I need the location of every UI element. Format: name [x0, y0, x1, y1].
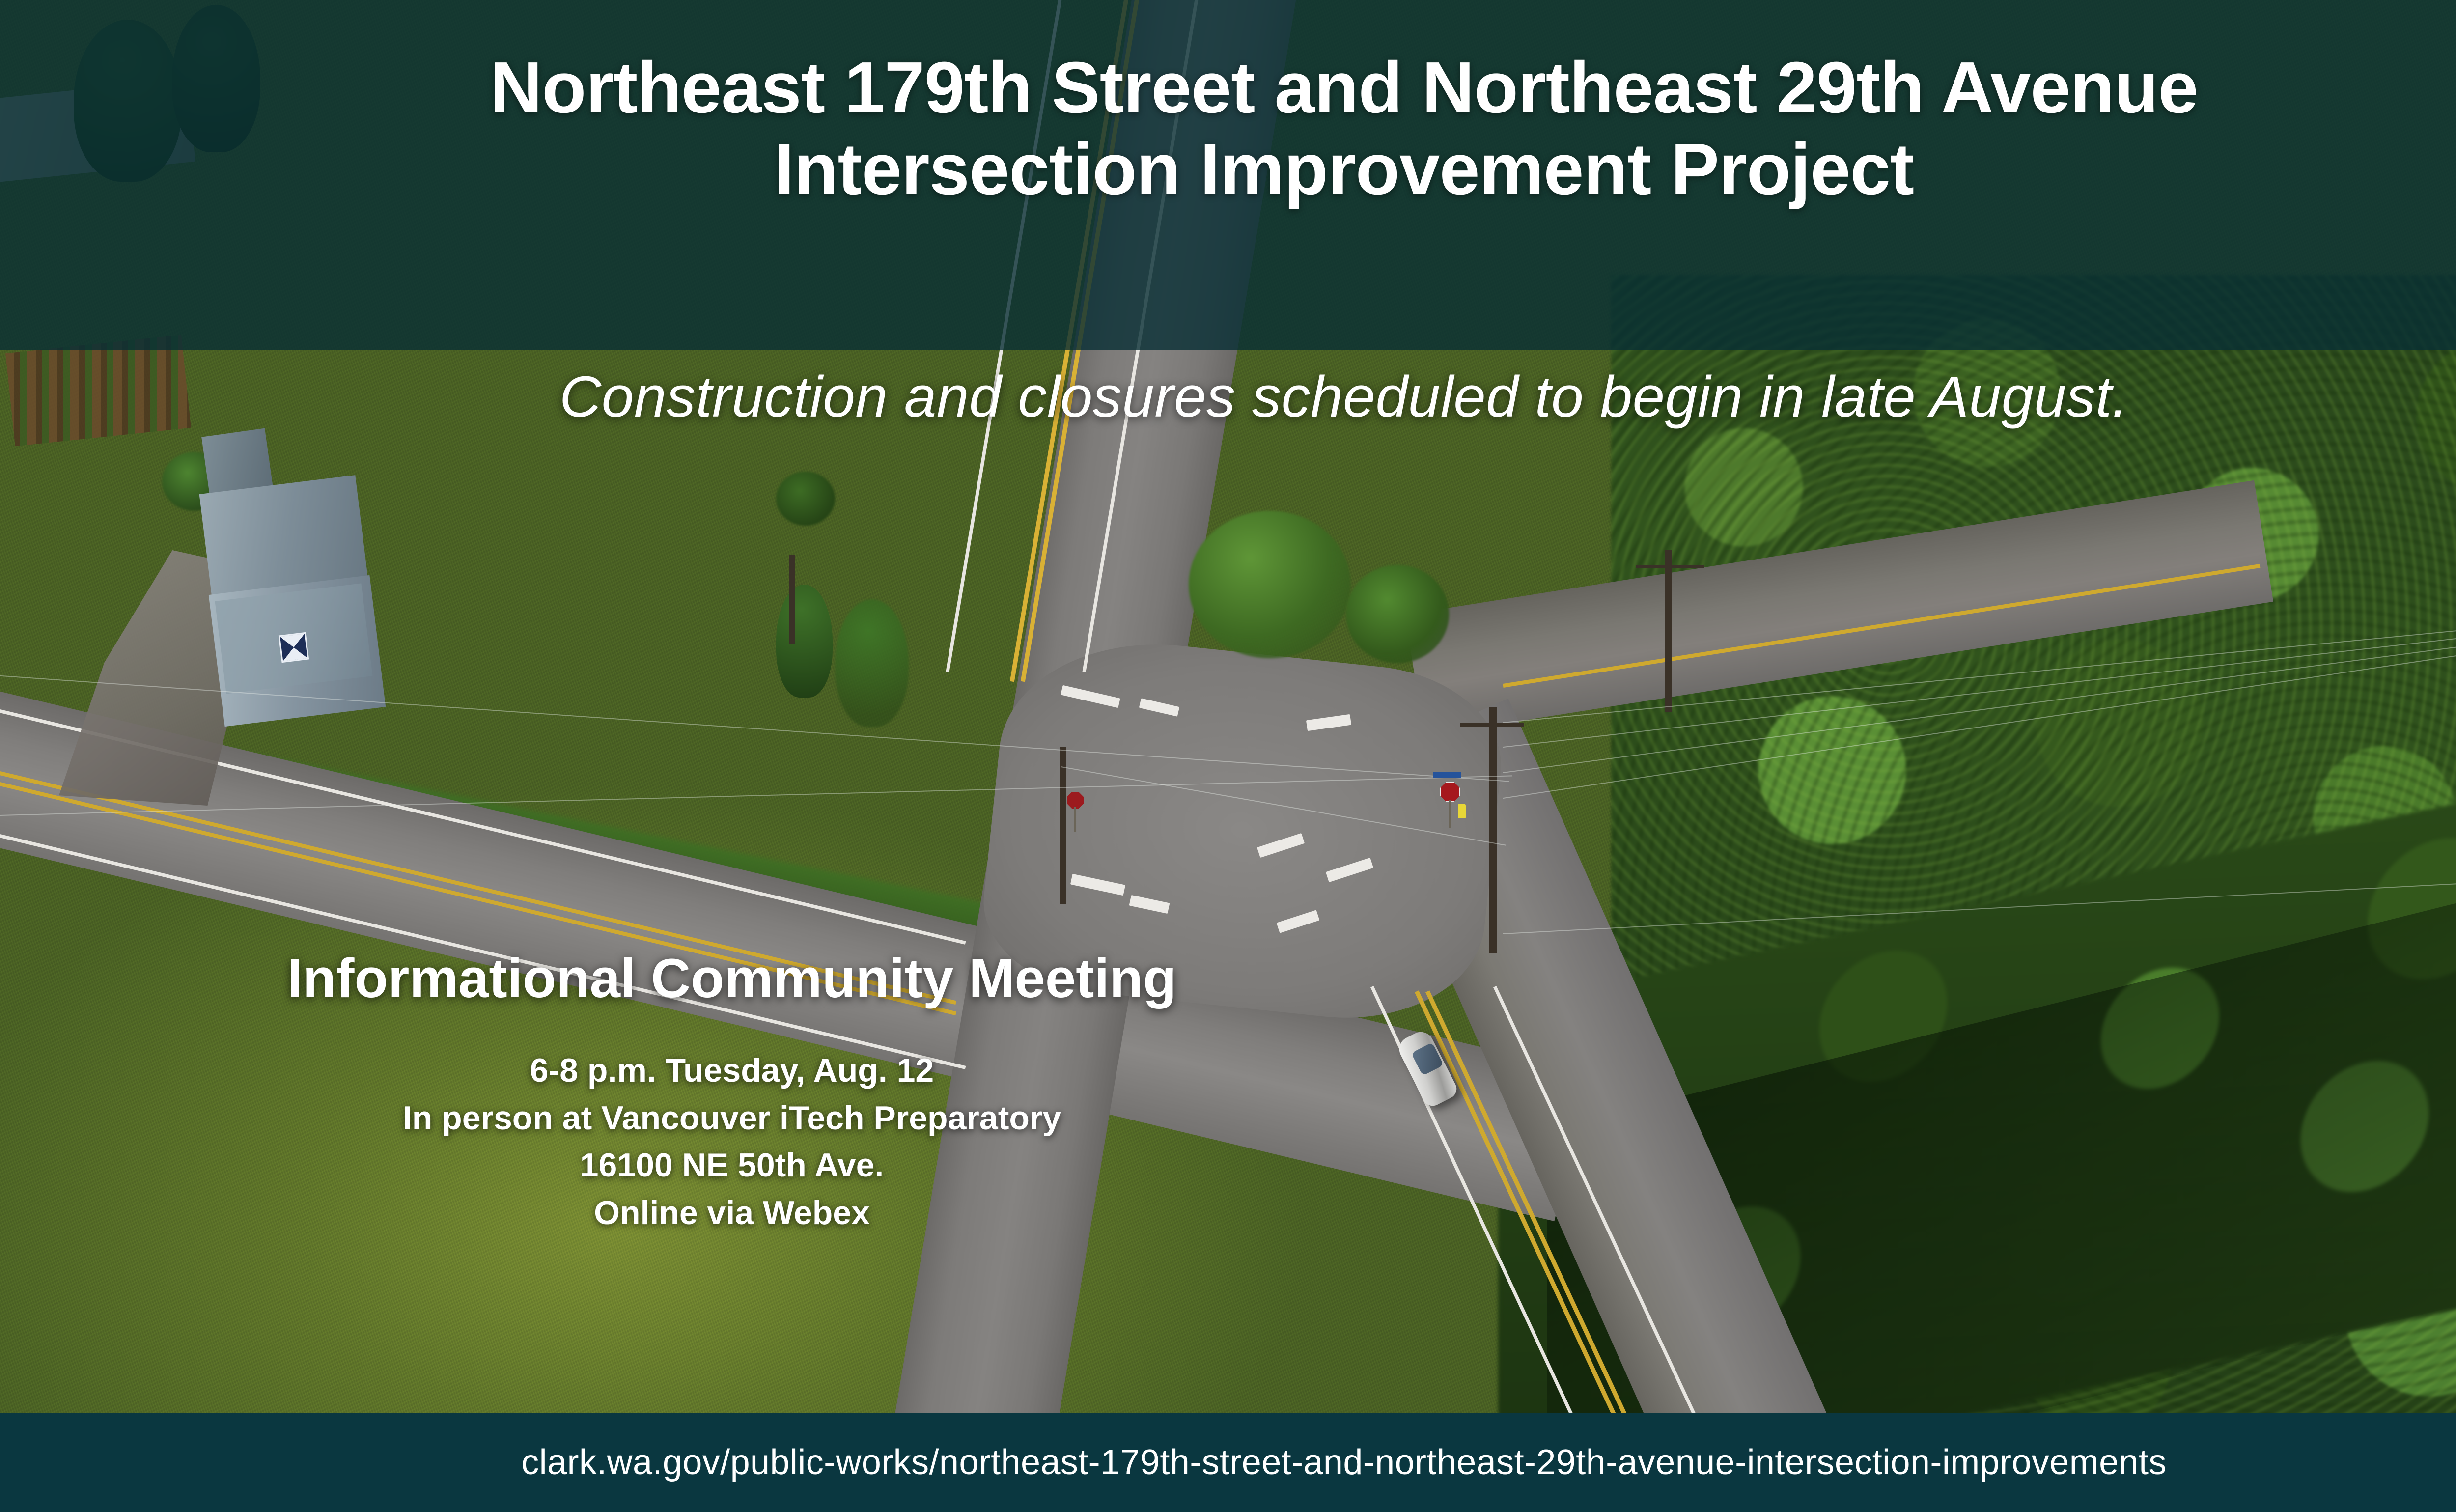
utility-pole — [789, 555, 795, 644]
subtitle-text: Construction and closures scheduled to b… — [0, 364, 2456, 430]
tree — [776, 472, 835, 526]
barn-quilt-square — [279, 632, 309, 663]
pole-crossarm — [1460, 723, 1524, 727]
sign-post — [1074, 807, 1076, 832]
meeting-detail-line: In person at Vancouver iTech Preparatory — [167, 1094, 1297, 1142]
tree — [1346, 565, 1449, 663]
project-url[interactable]: clark.wa.gov/public-works/northeast-179t… — [0, 1413, 2456, 1512]
tree — [1189, 511, 1351, 658]
conifer-tree — [776, 585, 833, 698]
utility-pole — [1665, 550, 1672, 712]
sign-post — [1449, 800, 1451, 828]
meeting-info-block: Informational Community Meeting 6-8 p.m.… — [167, 948, 1297, 1236]
meeting-detail-line: 6-8 p.m. Tuesday, Aug. 12 — [167, 1047, 1297, 1094]
meeting-heading: Informational Community Meeting — [167, 948, 1297, 1008]
stop-sign — [1067, 792, 1084, 809]
fire-hydrant — [1458, 804, 1466, 818]
pole-crossarm — [1636, 565, 1704, 568]
poster-graphic: Northeast 179th Street and Northeast 29t… — [0, 0, 2456, 1512]
page-title: Northeast 179th Street and Northeast 29t… — [0, 47, 2456, 210]
tree — [835, 599, 909, 727]
meeting-detail-line: 16100 NE 50th Ave. — [167, 1142, 1297, 1189]
title-line-1: Northeast 179th Street and Northeast 29t… — [0, 47, 2456, 129]
meeting-detail-line: Online via Webex — [167, 1189, 1297, 1237]
stop-sign — [1440, 782, 1460, 802]
utility-pole — [1489, 707, 1497, 953]
street-name-sign — [1433, 772, 1461, 778]
title-line-2: Intersection Improvement Project — [0, 129, 2456, 210]
utility-pole — [1060, 747, 1066, 904]
